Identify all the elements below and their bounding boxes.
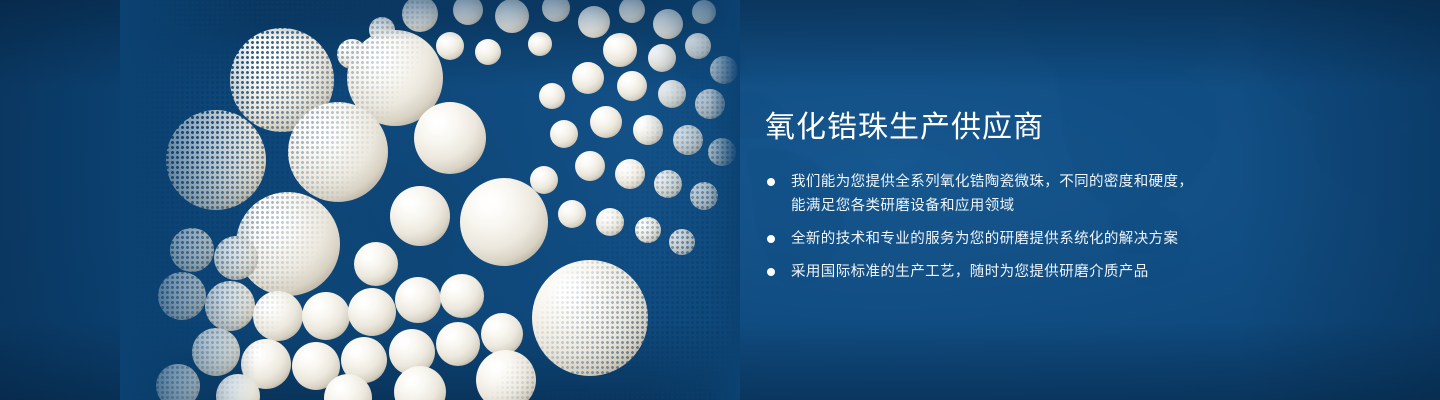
list-item: 采用国际标准的生产工艺，随时为您提供研磨介质产品 [765, 260, 1385, 284]
feature-bullet-list: 我们能为您提供全系列氧化锆陶瓷微珠，不同的密度和硬度， 能满足您各类研磨设备和应… [765, 170, 1385, 284]
list-item: 全新的技术和专业的服务为您的研磨提供系统化的解决方案 [765, 227, 1385, 251]
bullet-dot-icon [767, 178, 775, 186]
hero-banner: 氧化锆珠生产供应商 我们能为您提供全系列氧化锆陶瓷微珠，不同的密度和硬度， 能满… [0, 0, 1440, 400]
bullet-dot-icon [767, 235, 775, 243]
banner-headline: 氧化锆珠生产供应商 [765, 108, 1385, 148]
list-item: 我们能为您提供全系列氧化锆陶瓷微珠，不同的密度和硬度， 能满足您各类研磨设备和应… [765, 170, 1385, 218]
bullet-line: 我们能为您提供全系列氧化锆陶瓷微珠，不同的密度和硬度， [791, 170, 1385, 194]
banner-content: 氧化锆珠生产供应商 我们能为您提供全系列氧化锆陶瓷微珠，不同的密度和硬度， 能满… [765, 108, 1385, 284]
bullet-dot-icon [767, 268, 775, 276]
bullet-line: 全新的技术和专业的服务为您的研磨提供系统化的解决方案 [791, 227, 1385, 251]
zirconia-beads-photo [120, 0, 740, 400]
bullet-line: 能满足您各类研磨设备和应用领域 [791, 194, 1385, 218]
bullet-line: 采用国际标准的生产工艺，随时为您提供研磨介质产品 [791, 260, 1385, 284]
